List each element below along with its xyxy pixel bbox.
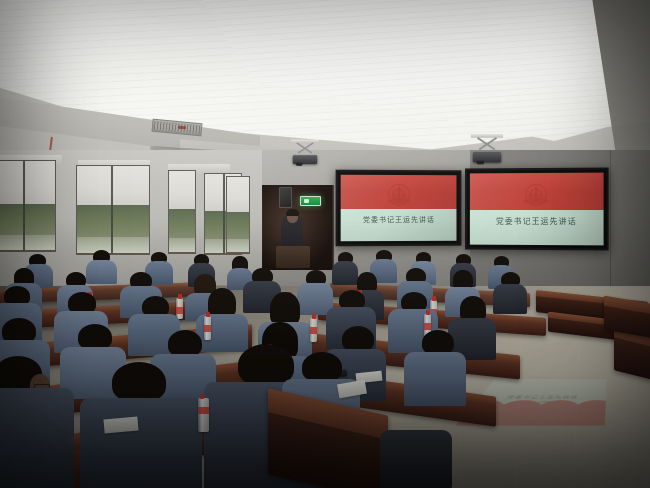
person-hair [168,330,202,357]
window-glass-1 [0,204,55,251]
window-glass-2 [77,205,149,254]
projector-left [291,142,319,170]
slide-canvas-left: 党委书记王运先讲话 [341,175,457,241]
person-torso [380,430,452,488]
person-torso [404,352,466,406]
party-emblem-icon-right [525,184,547,206]
podium [276,246,310,268]
document-sheet [103,417,138,434]
vent-indicator [178,126,186,130]
projector-right-lens [477,161,485,165]
person-hair [302,352,342,382]
projector-right [471,137,503,169]
window-glass-5 [227,212,249,253]
window-1 [0,160,56,252]
window-mullion-4 [223,174,225,254]
window-blind-3[interactable] [169,171,195,211]
person-torso [332,261,358,285]
person-hair [112,362,166,402]
window-2 [76,165,150,255]
window-3 [168,170,196,254]
projection-screen-right: 党委书记王运先讲话 [465,168,609,251]
person-hair [270,292,300,326]
slide-canvas-right: 党委书记王运先讲话 [470,173,604,246]
projection-screen-left: 党委书记王运先讲话 [336,170,462,247]
person-torso [86,260,117,284]
conference-room-photo: 党委书记王运先讲话 党委书记王运先讲话 党委书记王运先讲话 [0,0,650,488]
water-bottle [198,398,209,432]
window-sill-2 [76,253,150,255]
person-torso [493,284,527,314]
presenter-hair [286,209,299,216]
window-mullion-2 [111,166,113,254]
window-sill-5 [226,252,250,254]
window-blind-5[interactable] [227,177,249,214]
exit-sign-icon [300,196,321,206]
window-blind-1[interactable] [0,161,55,207]
slide-title-right: 党委书记王运先讲话 [470,216,604,227]
water-bottle [176,298,183,319]
projector-left-lens [296,163,303,166]
window-5 [226,176,250,254]
window-mullion-1 [23,161,25,251]
window-sill-1 [0,250,56,252]
party-emblem-icon-left [388,184,410,206]
party-emblem-inner-left [393,189,405,201]
party-emblem-inner-right [530,188,542,200]
water-bottle [204,316,211,340]
person-torso [80,398,202,488]
window-sill-3 [168,252,196,254]
window-glass-3 [169,209,195,253]
wall-speaker-box [279,187,292,208]
person-torso [0,388,74,488]
water-bottle [310,318,317,342]
slide-title-left: 党委书记王运先讲话 [341,215,457,225]
window-blind-2[interactable] [77,166,149,207]
